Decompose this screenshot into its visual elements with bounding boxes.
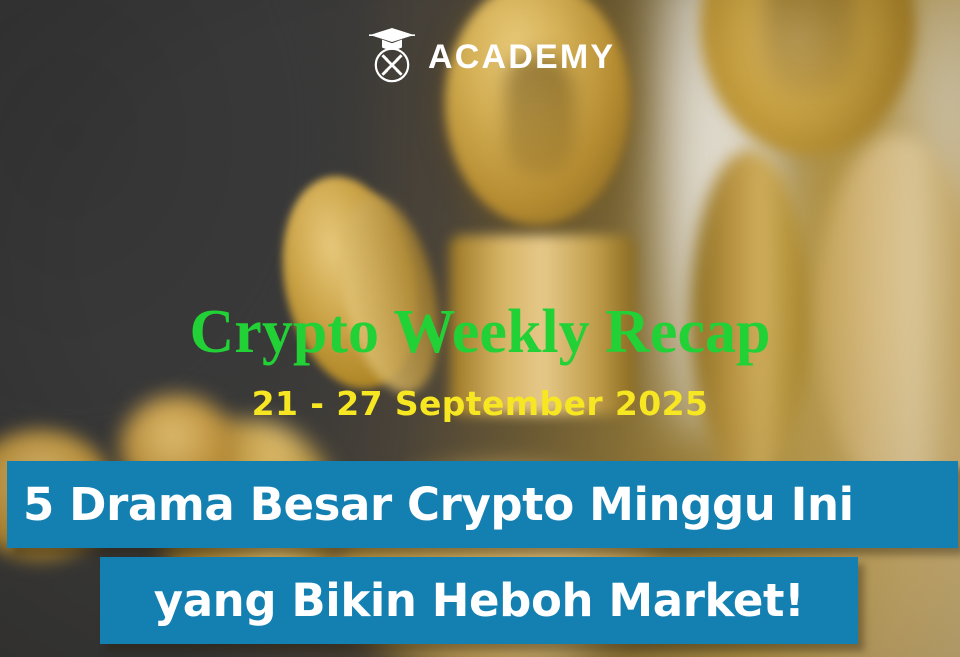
headline-bar-line-1: 5 Drama Besar Crypto Minggu Ini — [7, 461, 958, 548]
headline-bar-line-2: yang Bikin Heboh Market! — [100, 557, 858, 644]
academy-wordmark: ACADEMY — [428, 36, 615, 74]
graduation-cap-crossed-pickaxes-icon — [366, 26, 418, 84]
crypto-weekly-recap-banner: ACADEMY Crypto Weekly Recap 21 - 27 Sept… — [0, 0, 960, 657]
headline-text-line-2: yang Bikin Heboh Market! — [154, 578, 804, 623]
page-title: Crypto Weekly Recap — [0, 300, 960, 365]
headline-text-line-1: 5 Drama Besar Crypto Minggu Ini — [23, 482, 854, 527]
date-range-label: 21 - 27 September 2025 — [0, 384, 960, 424]
academy-logo: ACADEMY — [366, 24, 615, 86]
